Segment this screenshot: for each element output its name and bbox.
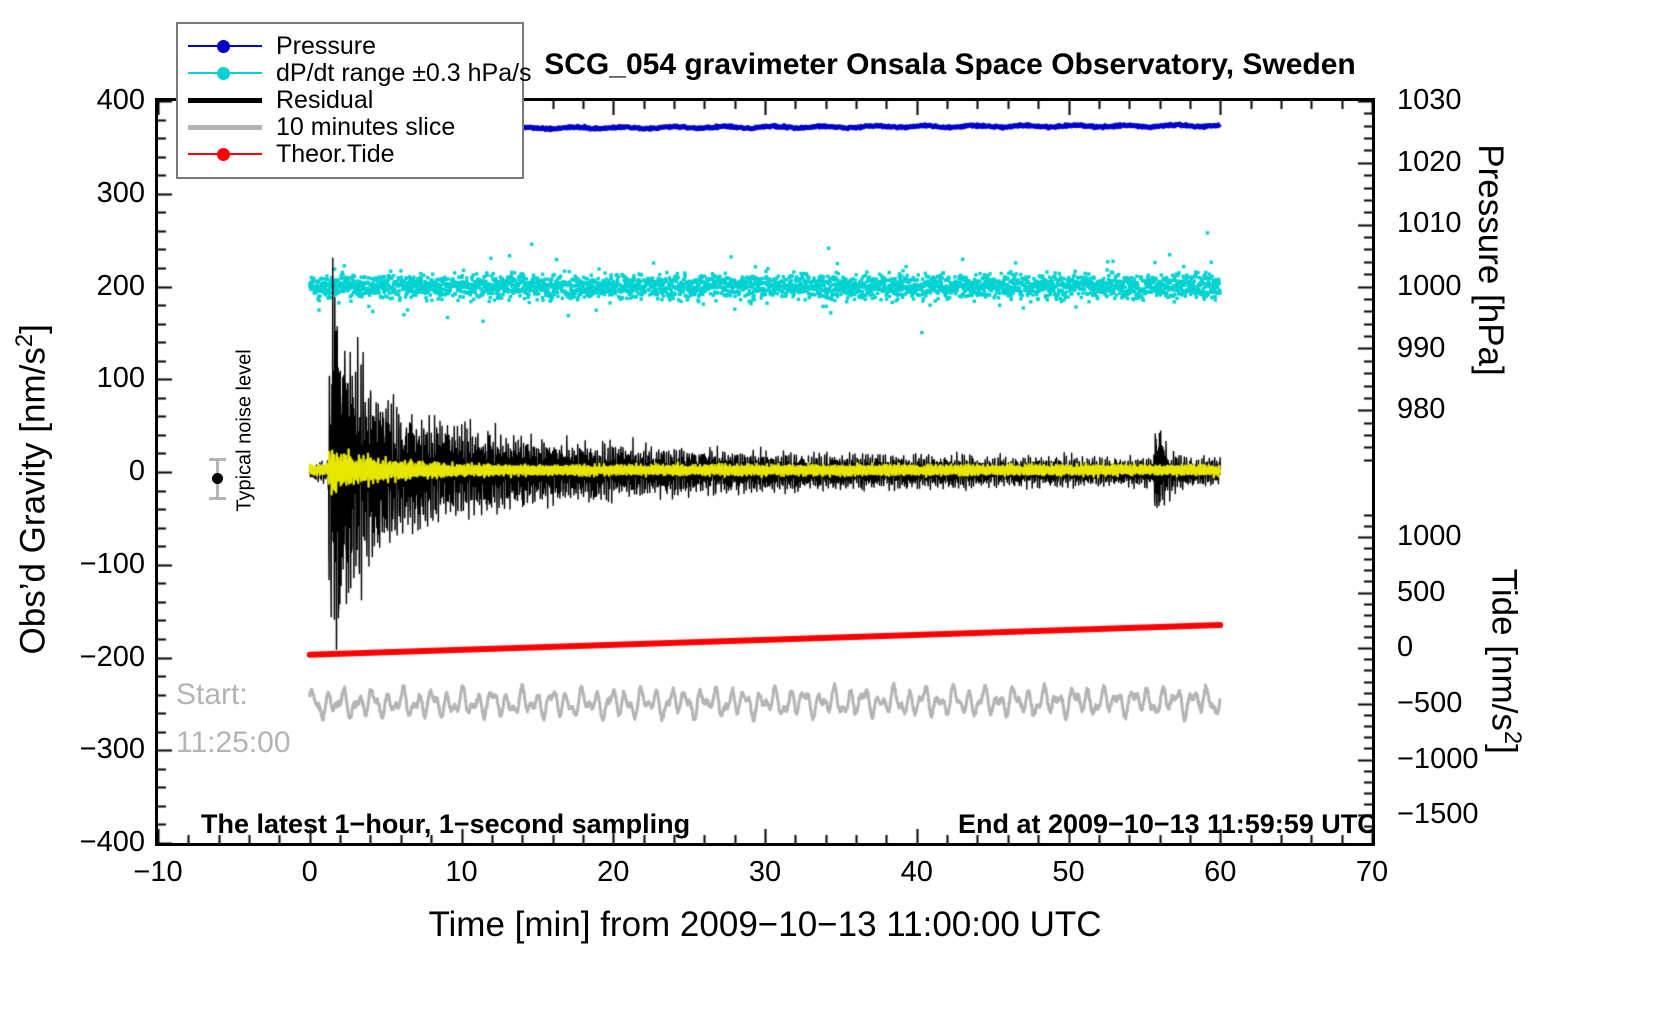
y2-tick-label: 1030 — [1397, 86, 1497, 115]
legend-item[interactable]: Theor.Tide — [188, 141, 512, 167]
legend-marker-dot — [217, 148, 230, 161]
y-tick-label: 200 — [27, 272, 145, 301]
legend-item[interactable]: Residual — [188, 87, 512, 113]
legend-swatch-icon — [188, 144, 262, 164]
legend-item-label: 10 minutes slice — [276, 113, 455, 142]
legend-item[interactable]: dP/dt range ±0.3 hPa/s — [188, 60, 512, 86]
end-time-note: End at 2009−10−13 11:59:59 UTC — [958, 809, 1375, 840]
y3-tick-label: 500 — [1397, 578, 1515, 607]
y2-tick-label: 980 — [1397, 395, 1497, 424]
x-tick-label: 20 — [553, 858, 673, 887]
x-tick-label: 70 — [1312, 858, 1432, 887]
legend: PressuredP/dt range ±0.3 hPa/sResidual10… — [176, 22, 524, 179]
noise-level-dot — [212, 473, 223, 484]
y3-tick-label: −500 — [1397, 689, 1515, 718]
legend-swatch-icon — [188, 117, 262, 137]
noise-level-caption: Typical noise level — [234, 301, 257, 561]
y2-tick-label: 1000 — [1397, 272, 1497, 301]
y3-tick-label: −1000 — [1397, 745, 1515, 774]
legend-item[interactable]: Pressure — [188, 33, 512, 59]
x-tick-label: 30 — [705, 858, 825, 887]
legend-marker-dot — [217, 40, 230, 53]
y3-tick-label: −1500 — [1397, 800, 1515, 829]
start-label: Start: — [176, 678, 248, 712]
legend-item[interactable]: 10 minutes slice — [188, 114, 512, 140]
y2-tick-label: 990 — [1397, 334, 1497, 363]
y3-tick-label: 1000 — [1397, 522, 1515, 551]
noise-level-marker — [206, 458, 228, 500]
legend-swatch-icon — [188, 36, 262, 56]
legend-item-label: Residual — [276, 86, 373, 115]
y-tick-label: 400 — [27, 86, 145, 115]
error-bar-cap-top — [209, 458, 226, 461]
plot-area: The latest 1−hour, 1−second sampling End… — [155, 98, 1375, 846]
legend-swatch-icon — [188, 90, 262, 110]
x-tick-label: 60 — [1160, 858, 1280, 887]
legend-item-label: Pressure — [276, 32, 376, 61]
x-axis-title: Time [min] from 2009−10−13 11:00:00 UTC — [155, 905, 1375, 945]
legend-marker-dot — [217, 67, 230, 80]
x-tick-label: 10 — [402, 858, 522, 887]
x-tick-label: 40 — [857, 858, 977, 887]
y2-tick-label: 1010 — [1397, 209, 1497, 238]
y-tick-label: 0 — [27, 457, 145, 486]
legend-item-label: Theor.Tide — [276, 140, 395, 169]
page-title: SCG_054 gravimeter Onsala Space Observat… — [520, 48, 1380, 82]
legend-swatch-icon — [188, 63, 262, 83]
latest-sampling-note: The latest 1−hour, 1−second sampling — [201, 809, 690, 840]
legend-item-label: dP/dt range ±0.3 hPa/s — [276, 59, 532, 88]
plot-canvas — [158, 101, 1372, 843]
y-tick-label: −200 — [27, 643, 145, 672]
error-bar-cap-bottom — [209, 497, 226, 500]
y-tick-label: −300 — [27, 735, 145, 764]
y-axis-title: Obs’d Gravity [nm/s2] — [11, 169, 54, 809]
y2-tick-label: 1020 — [1397, 148, 1497, 177]
x-tick-label: 0 — [250, 858, 370, 887]
y-tick-label: −100 — [27, 550, 145, 579]
y-tick-label: 300 — [27, 179, 145, 208]
y-tick-label: −400 — [27, 828, 145, 857]
chart-page: SCG_054 gravimeter Onsala Space Observat… — [0, 0, 1676, 1020]
x-tick-label: −10 — [98, 858, 218, 887]
x-tick-label: 50 — [1009, 858, 1129, 887]
y3-tick-label: 0 — [1397, 633, 1515, 662]
start-time-value: 11:25:00 — [176, 726, 291, 760]
y-tick-label: 100 — [27, 364, 145, 393]
y2-axis-title: Pressure [hPa] — [1470, 80, 1510, 440]
